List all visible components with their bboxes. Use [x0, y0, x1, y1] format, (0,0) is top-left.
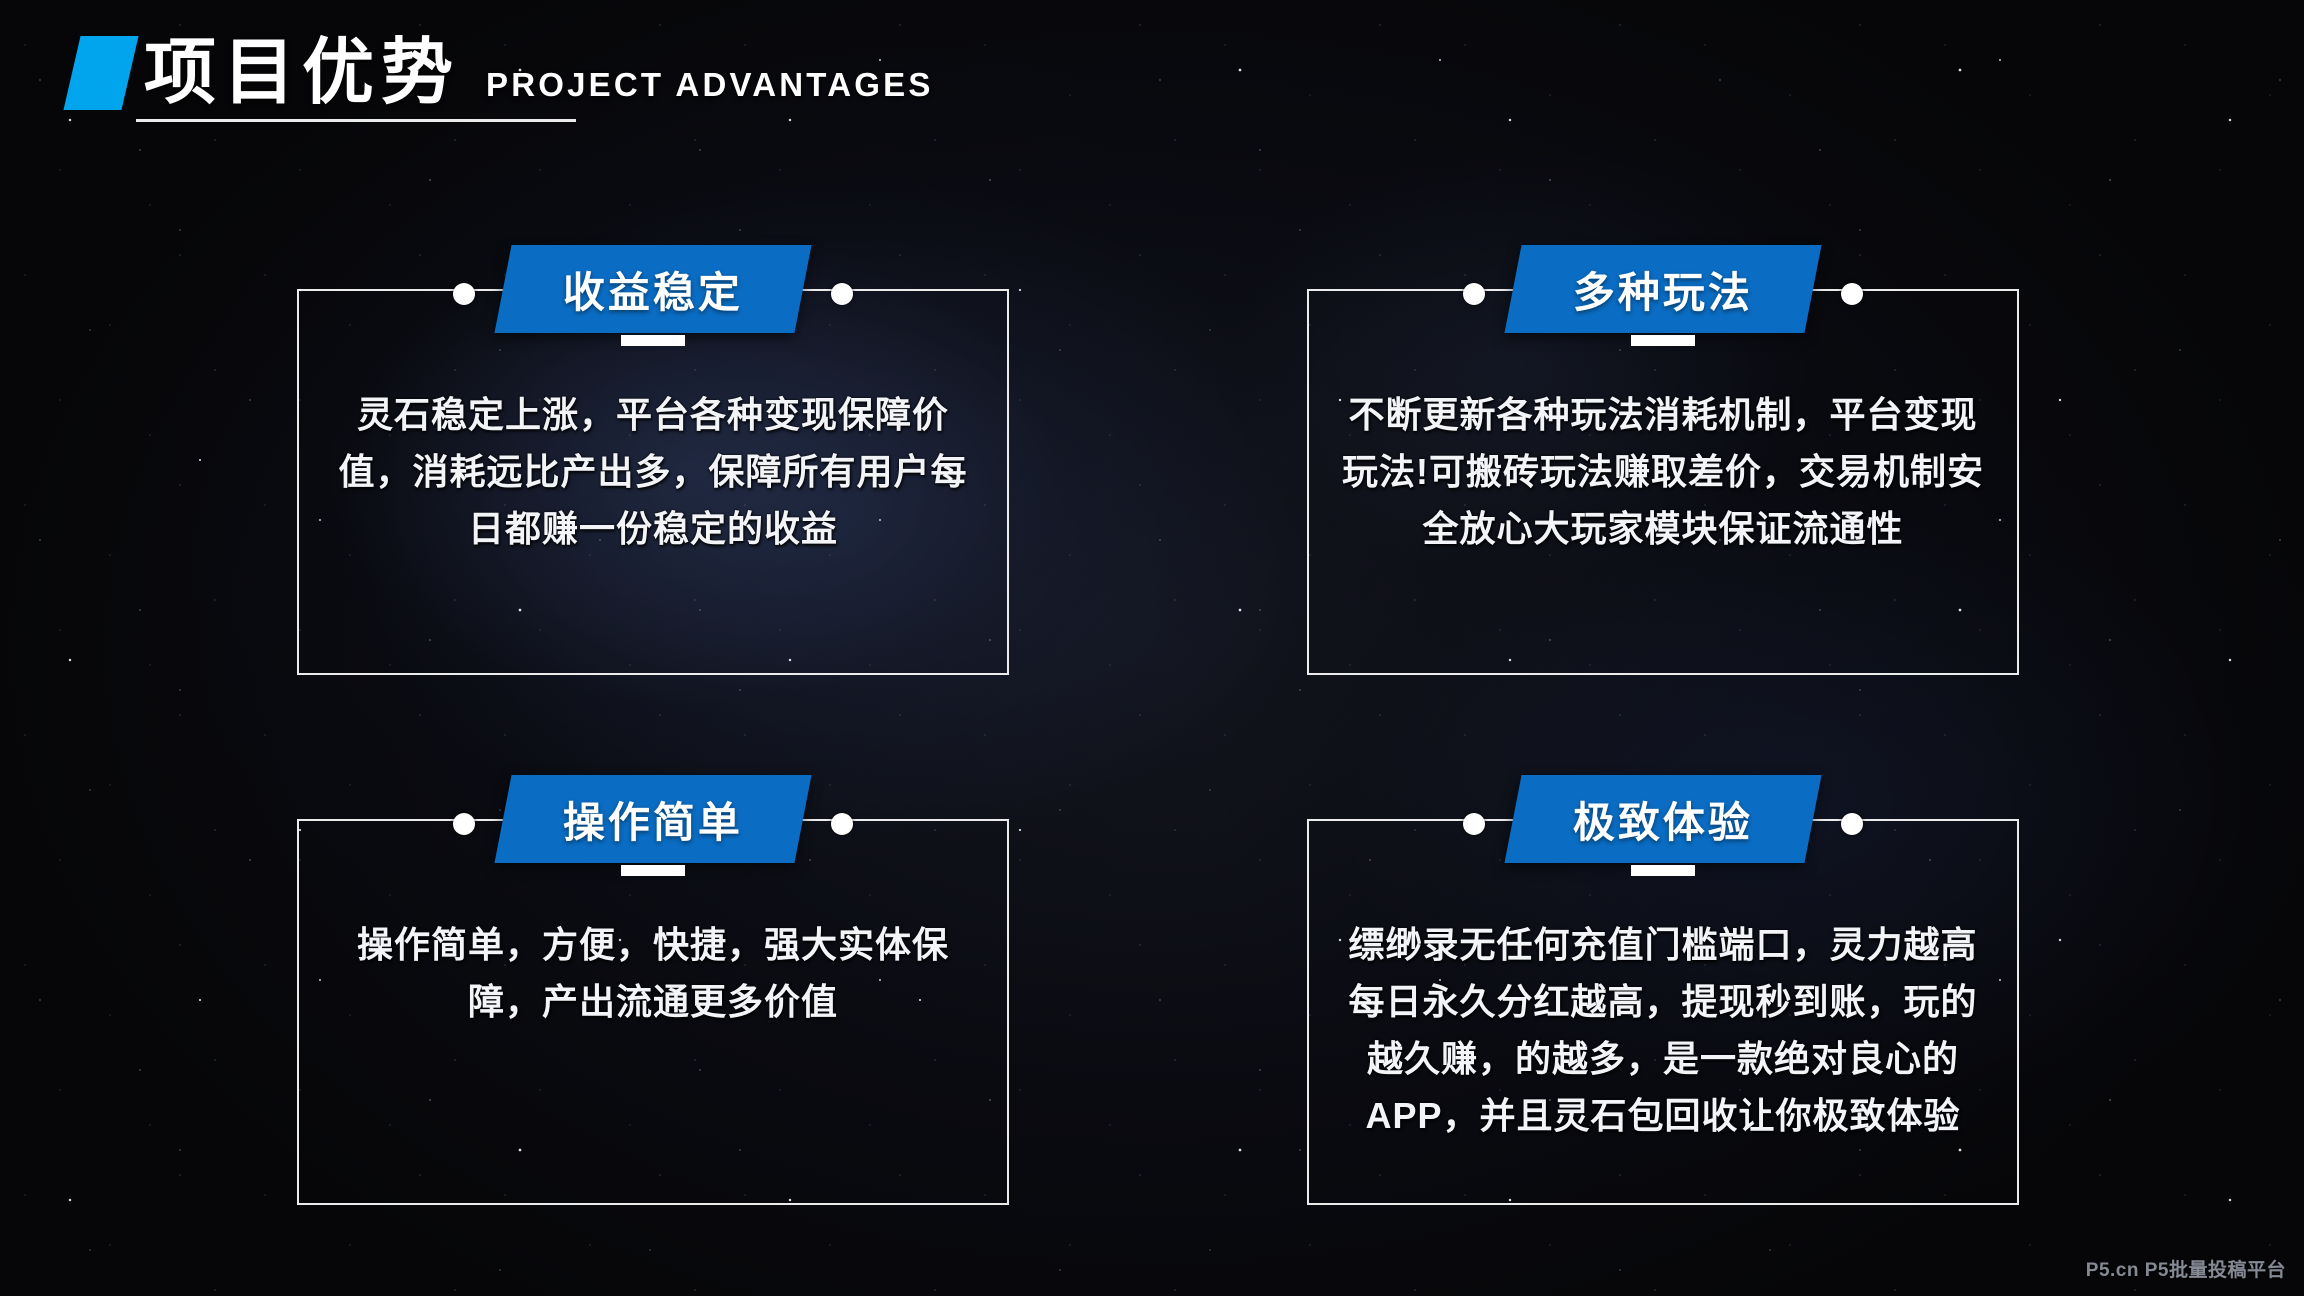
connector-dot-right — [831, 283, 853, 305]
connector-dot-right — [1841, 813, 1863, 835]
card-body: 操作简单，方便，快捷，强大实体保障，产出流通更多价值 — [297, 863, 1009, 1031]
card-body: 不断更新各种玩法消耗机制，平台变现玩法!可搬砖玩法赚取差价，交易机制安全放心大玩… — [1307, 333, 2019, 558]
slide-canvas: 项目优势 PROJECT ADVANTAGES 收益稳定 灵石稳定上涨，平台各种… — [0, 0, 2304, 1296]
page-title: 项目优势 — [144, 37, 460, 109]
banner-dash-icon — [621, 865, 685, 876]
card-title: 收益稳定 — [563, 259, 743, 320]
card-title-banner: 极致体验 — [1504, 775, 1821, 863]
connector-dot-right — [831, 813, 853, 835]
card-banner-row: 极致体验 — [1307, 775, 2019, 863]
watermark: P5.cn P5批量投稿平台 — [2086, 1255, 2286, 1282]
card-title-banner: 多种玩法 — [1504, 245, 1821, 333]
banner-dash-icon — [621, 335, 685, 346]
card-banner-row: 多种玩法 — [1307, 245, 2019, 333]
page-subtitle: PROJECT ADVANTAGES — [486, 68, 934, 110]
connector-dot-left — [453, 813, 475, 835]
card-body-text: 缥缈录无任何充值门槛端口，灵力越高每日永久分红越高，提现秒到账，玩的越久赚，的越… — [1337, 917, 1989, 1145]
advantage-card: 收益稳定 灵石稳定上涨，平台各种变现保障价值，消耗远比产出多，保障所有用户每日都… — [297, 245, 1009, 675]
card-body-text: 操作简单，方便，快捷，强大实体保障，产出流通更多价值 — [327, 917, 979, 1031]
card-body: 缥缈录无任何充值门槛端口，灵力越高每日永久分红越高，提现秒到账，玩的越久赚，的越… — [1307, 863, 2019, 1145]
title-underline — [136, 119, 576, 122]
banner-dash-icon — [1631, 335, 1695, 346]
advantage-card: 操作简单 操作简单，方便，快捷，强大实体保障，产出流通更多价值 — [297, 775, 1009, 1205]
banner-dash-icon — [1631, 865, 1695, 876]
connector-dot-left — [1463, 813, 1485, 835]
connector-dot-left — [453, 283, 475, 305]
card-body: 灵石稳定上涨，平台各种变现保障价值，消耗远比产出多，保障所有用户每日都赚一份稳定… — [297, 333, 1009, 558]
card-banner-row: 操作简单 — [297, 775, 1009, 863]
title-accent-parallelogram-icon — [63, 36, 138, 110]
card-body-text: 不断更新各种玩法消耗机制，平台变现玩法!可搬砖玩法赚取差价，交易机制安全放心大玩… — [1337, 387, 1989, 558]
advantage-card: 极致体验 缥缈录无任何充值门槛端口，灵力越高每日永久分红越高，提现秒到账，玩的越… — [1307, 775, 2019, 1205]
advantage-card: 多种玩法 不断更新各种玩法消耗机制，平台变现玩法!可搬砖玩法赚取差价，交易机制安… — [1307, 245, 2019, 675]
card-title: 极致体验 — [1573, 789, 1753, 850]
card-banner-row: 收益稳定 — [297, 245, 1009, 333]
card-title-banner: 操作简单 — [494, 775, 811, 863]
card-title: 操作简单 — [563, 789, 743, 850]
connector-dot-right — [1841, 283, 1863, 305]
connector-dot-left — [1463, 283, 1485, 305]
card-title: 多种玩法 — [1573, 259, 1753, 320]
card-title-banner: 收益稳定 — [494, 245, 811, 333]
page-header: 项目优势 PROJECT ADVANTAGES — [72, 36, 934, 110]
card-body-text: 灵石稳定上涨，平台各种变现保障价值，消耗远比产出多，保障所有用户每日都赚一份稳定… — [327, 387, 979, 558]
title-group: 项目优势 — [72, 36, 460, 110]
